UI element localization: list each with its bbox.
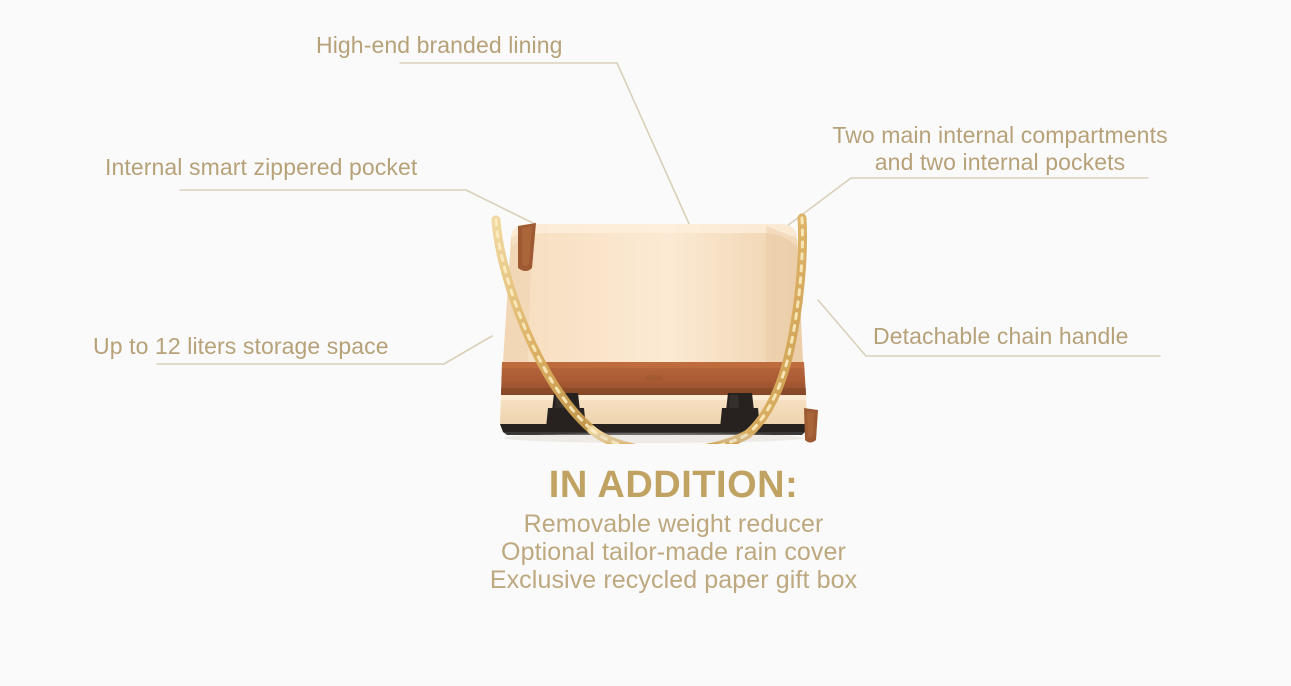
callout-up-to-12-liters-storage-space: Up to 12 liters storage space [93,333,389,360]
handbag-illustration [466,212,846,444]
leader-line-lining [400,63,690,226]
callout-two-main-internal-compartments: Two main internal compartments and two i… [800,122,1200,176]
callout-high-end-branded-lining: High-end branded lining [316,32,563,59]
bag-body [503,224,803,362]
callout-compartments-line-1: Two main internal compartments [832,122,1167,148]
bag-drop-shadow [504,433,804,443]
in-addition-item-1: Removable weight reducer [0,510,1291,538]
leather-tab-bottom-right [804,408,818,443]
product-image-handbag [466,212,846,444]
in-addition-title: IN ADDITION: [0,466,1291,504]
callout-internal-smart-zippered-pocket: Internal smart zippered pocket [105,154,417,181]
feature-callout-canvas: High-end branded lining Two main interna… [0,0,1291,686]
in-addition-block: IN ADDITION: Removable weight reducer Op… [0,466,1291,594]
callout-detachable-chain-handle: Detachable chain handle [873,323,1129,350]
callout-compartments-line-2: and two internal pockets [875,149,1125,175]
brand-logo-emboss [645,375,663,381]
in-addition-item-2: Optional tailor-made rain cover [0,538,1291,566]
in-addition-item-3: Exclusive recycled paper gift box [0,566,1291,594]
